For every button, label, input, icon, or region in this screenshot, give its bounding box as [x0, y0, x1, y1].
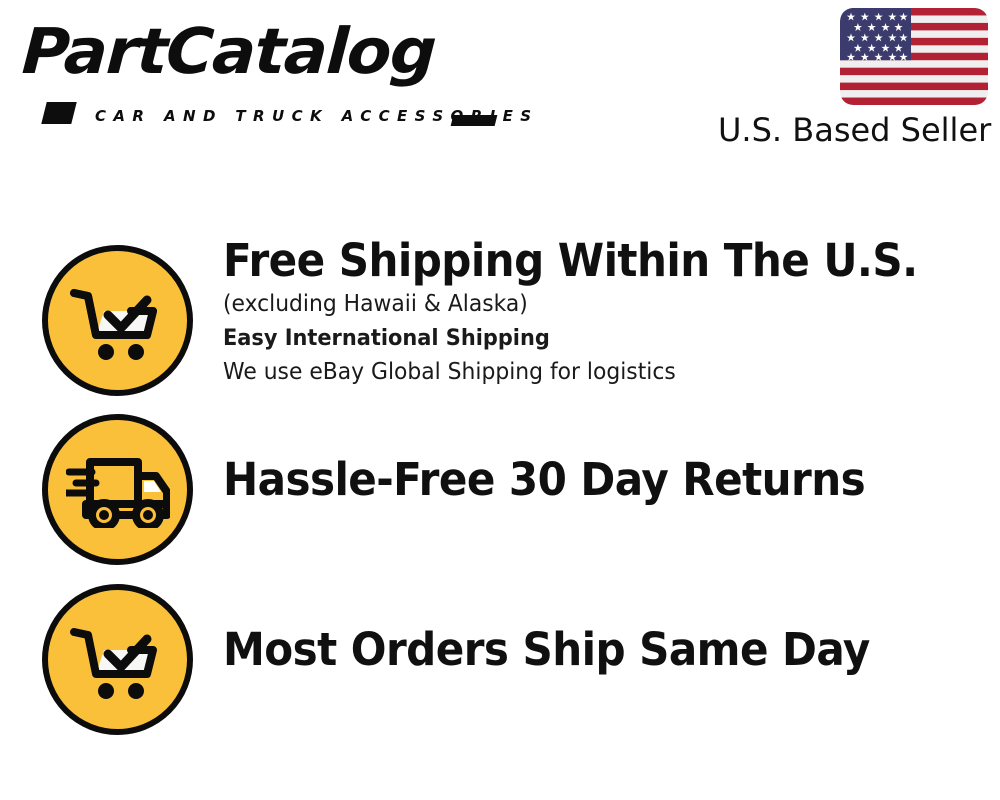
feature-row: Hassle-Free 30 Day Returns	[0, 408, 1000, 580]
feature-text-block: Free Shipping Within The U.S. (excluding…	[223, 236, 983, 388]
us-flag-icon	[840, 8, 988, 105]
feature-subline: Easy International Shipping	[223, 323, 945, 354]
logo-wordmark: PartCatalog	[21, 20, 437, 83]
feature-title: Free Shipping Within The U.S.	[223, 236, 934, 286]
us-based-seller-label: U.S. Based Seller	[718, 111, 988, 149]
logo-left-slash	[41, 102, 76, 124]
shopping-cart-check-icon	[42, 245, 193, 396]
shopping-cart-check-icon	[42, 584, 193, 735]
feature-row: Free Shipping Within The U.S. (excluding…	[0, 236, 1000, 408]
partcatalog-logo[interactable]: PartCatalog CAR AND TRUCK ACCESSORIES	[22, 20, 492, 115]
us-based-seller-badge: U.S. Based Seller	[718, 8, 988, 149]
feature-title: Hassle-Free 30 Day Returns	[223, 455, 934, 505]
page-header: PartCatalog CAR AND TRUCK ACCESSORIES	[0, 0, 1000, 170]
logo-right-slash	[451, 115, 498, 126]
feature-subline: (excluding Hawaii & Alaska)	[223, 289, 945, 320]
feature-text-block: Hassle-Free 30 Day Returns	[223, 455, 983, 505]
feature-text-block: Most Orders Ship Same Day	[223, 625, 983, 675]
feature-row: Most Orders Ship Same Day	[0, 580, 1000, 752]
delivery-truck-icon	[42, 414, 193, 565]
feature-list: Free Shipping Within The U.S. (excluding…	[0, 236, 1000, 752]
feature-title: Most Orders Ship Same Day	[223, 625, 934, 675]
feature-subline: We use eBay Global Shipping for logistic…	[223, 357, 945, 388]
